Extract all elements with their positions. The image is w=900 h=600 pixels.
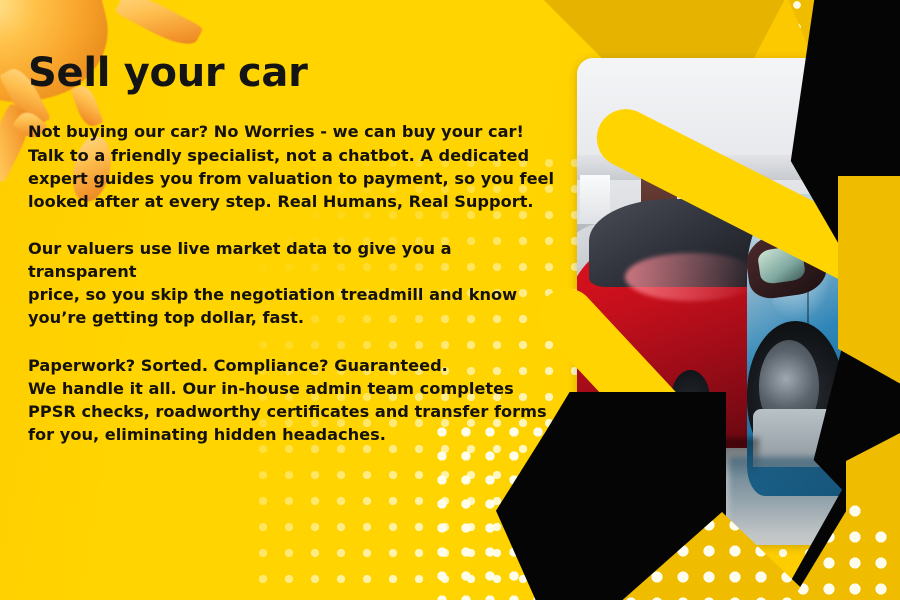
text-content-block: Sell your car Not buying our car? No Wor…	[28, 52, 558, 446]
body-paragraph-3: Paperwork? Sorted. Compliance? Guarantee…	[28, 354, 558, 447]
body-paragraph-2: Our valuers use live market data to give…	[28, 237, 558, 330]
body-paragraph-1: Not buying our car? No Worries - we can …	[28, 120, 558, 213]
red-car-highlight	[625, 253, 758, 302]
poster-canvas: Sell your car Not buying our car? No Wor…	[0, 0, 900, 600]
page-title: Sell your car	[28, 52, 558, 94]
